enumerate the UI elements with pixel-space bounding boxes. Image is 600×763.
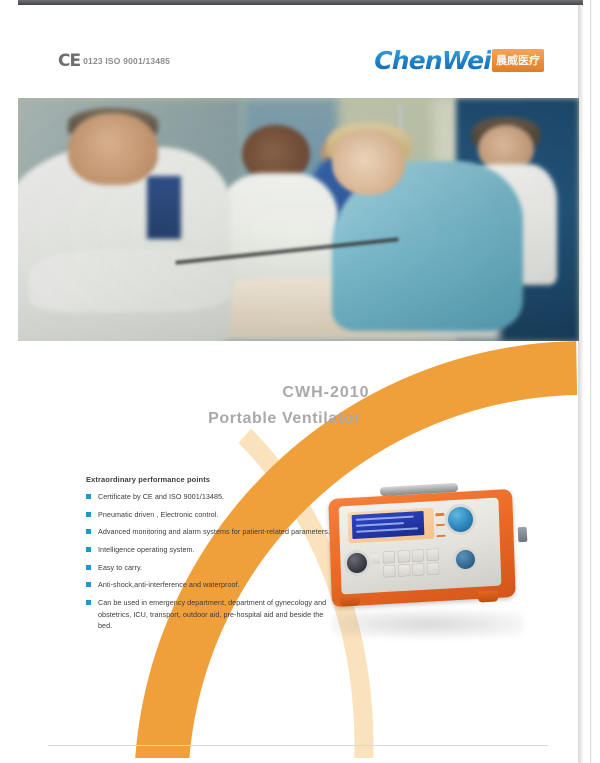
footer-divider [48, 745, 548, 746]
feature-text: Pneumatic driven , Electronic control. [98, 509, 219, 521]
product-title: CWH-2010 Portable Ventilator [18, 384, 579, 428]
list-item: Can be used in emergency department, dep… [86, 597, 336, 632]
logo-wordmark: ChenWei [374, 46, 491, 75]
indicator-led [435, 513, 444, 516]
list-item: Easy to carry. [86, 562, 336, 574]
bullet-icon [86, 494, 91, 499]
bullet-icon [86, 582, 91, 587]
hero-overlay [18, 98, 579, 341]
feature-text: Anti-shock,anti-interference and waterpr… [98, 579, 240, 591]
page-edge-line [590, 0, 592, 763]
list-item: Anti-shock,anti-interference and waterpr… [86, 579, 336, 591]
display-line [356, 516, 414, 521]
list-item: Pneumatic driven , Electronic control. [86, 509, 336, 521]
document-viewer: CE 0123 ISO 9001/13485 ChenWei 晨威医疗 [0, 0, 600, 763]
feature-list: Extraordinary performance points Certifi… [86, 475, 336, 638]
device-key [426, 548, 439, 560]
product-name: Portable Ventilator [18, 410, 579, 428]
device-keypad [383, 548, 440, 577]
indicator-led [436, 524, 445, 527]
logo-chinese-badge: 晨威医疗 [492, 49, 544, 72]
indicator-led [437, 534, 446, 537]
list-item: Intelligence operating system. [86, 544, 336, 556]
device-display [352, 511, 425, 539]
hero-photo [18, 98, 579, 341]
list-item: Advanced monitoring and alarm systems fo… [86, 526, 336, 538]
device-key [412, 564, 425, 576]
device-key [412, 549, 425, 561]
certification-mark: CE 0123 ISO 9001/13485 [58, 51, 170, 71]
bullet-icon [86, 529, 91, 534]
page-header: CE 0123 ISO 9001/13485 ChenWei 晨威医疗 [18, 43, 579, 83]
brochure-page: CE 0123 ISO 9001/13485 ChenWei 晨威医疗 [18, 5, 579, 758]
device-key [397, 550, 410, 562]
bullet-icon [86, 547, 91, 552]
device-shadow [332, 611, 522, 637]
device-key [383, 565, 396, 577]
device-side-port [518, 527, 528, 542]
feature-text: Easy to carry. [98, 562, 142, 574]
feature-list-heading: Extraordinary performance points [86, 475, 336, 484]
bullet-icon [86, 565, 91, 570]
display-line [356, 522, 404, 527]
product-photo [318, 483, 533, 633]
feature-text: Certificate by CE and ISO 9001/13485. [98, 491, 224, 503]
ce-mark-icon: CE [58, 51, 80, 71]
device-key [398, 564, 411, 576]
feature-text: Advanced monitoring and alarm systems fo… [98, 526, 330, 538]
certification-text: 0123 ISO 9001/13485 [83, 56, 170, 66]
logo-chinese-text: 晨威医疗 [496, 55, 540, 66]
bullet-icon [86, 600, 91, 605]
feature-text: Intelligence operating system. [98, 544, 195, 556]
device-indicator-lights [435, 513, 445, 537]
display-line [356, 527, 418, 532]
device-key [371, 555, 380, 564]
list-item: Certificate by CE and ISO 9001/13485. [86, 491, 336, 503]
device-foot-left [340, 594, 361, 606]
bullet-icon [86, 512, 91, 517]
device-key [383, 551, 396, 563]
product-model: CWH-2010 [73, 384, 579, 402]
company-logo: ChenWei 晨威医疗 [374, 46, 544, 75]
device-foot-right [478, 590, 499, 602]
device-key [427, 563, 440, 575]
feature-text: Can be used in emergency department, dep… [98, 597, 336, 632]
